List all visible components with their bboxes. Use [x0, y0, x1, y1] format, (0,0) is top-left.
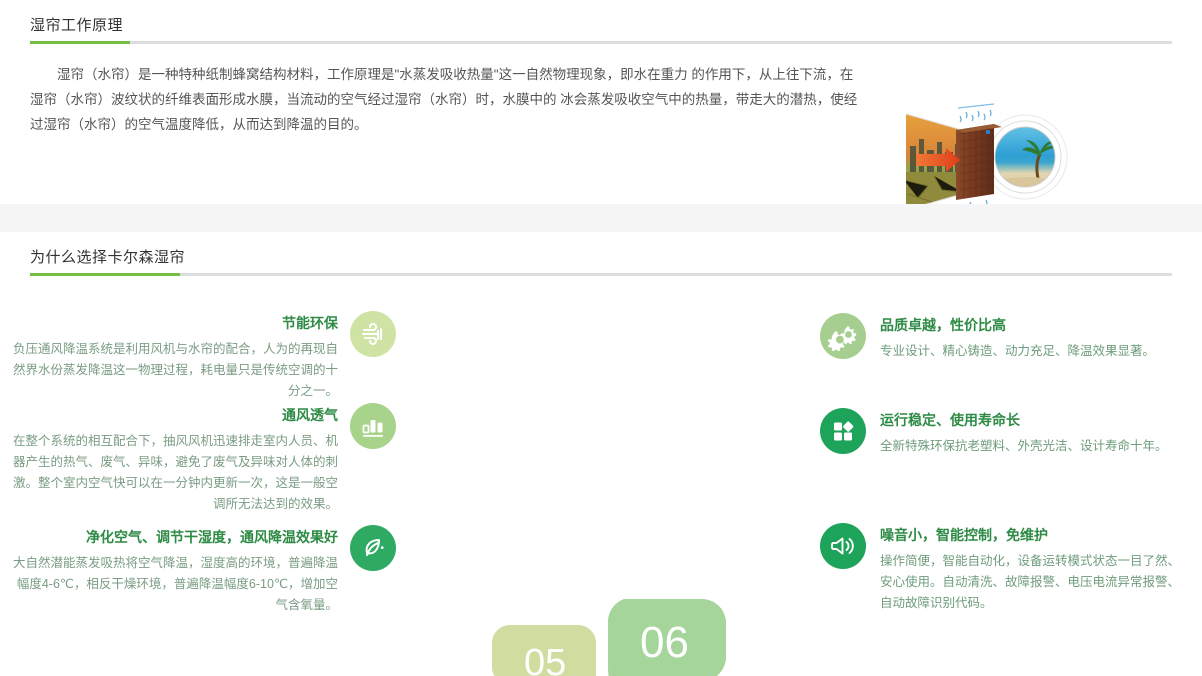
cool-scene: [993, 124, 1059, 190]
feature-description: 在整个系统的相互配合下，抽风风机迅速排走室内人员、机器产生的热气、废气、异味，避…: [10, 431, 338, 515]
feature-description: 专业设计、精心铸造、动力充足、降温效果显著。: [880, 341, 1186, 362]
feature-item-ventilation[interactable]: 通风透气 在整个系统的相互配合下，抽风风机迅速排走室内人员、机器产生的热气、废气…: [10, 403, 410, 515]
feature-text: 净化空气、调节干湿度，通风降温效果好 大自然潜能蒸发吸热将空气降温，湿度高的环境…: [10, 525, 350, 616]
gears-icon: [820, 313, 866, 359]
section-1-body: 湿帘（水帘）是一种特种纸制蜂窝结构材料，工作原理是"水蒸发吸收热量"这一自然物理…: [0, 44, 1202, 194]
leaf-number-label: 06: [640, 618, 689, 667]
feature-text: 通风透气 在整个系统的相互配合下，抽风风机迅速排走室内人员、机器产生的热气、废气…: [10, 403, 350, 515]
feature-text: 运行稳定、使用寿命长 全新特殊环保抗老塑料、外壳光洁、设计寿命十年。: [866, 408, 1186, 457]
wind-icon: [350, 311, 396, 357]
feature-title: 净化空气、调节干湿度，通风降温效果好: [10, 527, 338, 547]
feature-description: 全新特殊环保抗老塑料、外壳光洁、设计寿命十年。: [880, 436, 1186, 457]
intro-paragraph: 湿帘（水帘）是一种特种纸制蜂窝结构材料，工作原理是"水蒸发吸收热量"这一自然物理…: [30, 62, 860, 137]
section-1-header: 湿帘工作原理: [0, 14, 1202, 44]
feature-item-air-purification[interactable]: 净化空气、调节干湿度，通风降温效果好 大自然潜能蒸发吸热将空气降温，湿度高的环境…: [10, 525, 410, 616]
section-why-choose: 为什么选择卡尔森湿帘: [0, 246, 1202, 276]
feature-description: 负压通风降温系统是利用风机与水帘的配合，人为的再现自然界水份蒸发降温这一物理过程…: [10, 339, 338, 402]
speaker-icon: [820, 523, 866, 569]
feature-title: 品质卓越，性价比高: [880, 315, 1186, 335]
feature-item-stability[interactable]: 运行稳定、使用寿命长 全新特殊环保抗老塑料、外壳光洁、设计寿命十年。: [820, 408, 1200, 457]
feature-text: 品质卓越，性价比高 专业设计、精心铸造、动力充足、降温效果显著。: [866, 313, 1186, 362]
leaf-05: 05: [492, 625, 596, 676]
feature-title: 运行稳定、使用寿命长: [880, 410, 1186, 430]
section-2-header: 为什么选择卡尔森湿帘: [0, 246, 1202, 276]
feature-title: 通风透气: [10, 405, 338, 425]
feature-description: 大自然潜能蒸发吸热将空气降温，湿度高的环境，普遍降温幅度4-6℃，相反干燥环境，…: [10, 553, 338, 616]
features-area: 节能环保 负压通风降温系统是利用风机与水帘的配合，人为的再现自然界水份蒸发降温这…: [0, 295, 1202, 676]
feature-title: 节能环保: [10, 313, 338, 333]
feature-description: 操作简便，智能自动化，设备运转模式状态一目了然、安心使用。自动清洗、故障报警、电…: [880, 551, 1186, 614]
leaf-icon: [350, 525, 396, 571]
page-root: 湿帘工作原理 湿帘（水帘）是一种特种纸制蜂窝结构材料，工作原理是"水蒸发吸收热量…: [0, 0, 1202, 676]
bar-chart-icon: [350, 403, 396, 449]
rule-accent-fill: [30, 273, 180, 276]
feature-item-quality[interactable]: 品质卓越，性价比高 专业设计、精心铸造、动力充足、降温效果显著。: [820, 313, 1200, 362]
leaf-number-label: 05: [524, 642, 566, 676]
feature-text: 节能环保 负压通风降温系统是利用风机与水帘的配合，人为的再现自然界水份蒸发降温这…: [10, 311, 350, 402]
feature-item-low-noise[interactable]: 噪音小，智能控制，免维护 操作简便，智能自动化，设备运转模式状态一目了然、安心使…: [820, 523, 1200, 614]
section-divider-band: [0, 204, 1202, 232]
feature-item-energy-saving[interactable]: 节能环保 负压通风降温系统是利用风机与水帘的配合，人为的再现自然界水份蒸发降温这…: [10, 311, 410, 402]
section-working-principle: 湿帘工作原理 湿帘（水帘）是一种特种纸制蜂窝结构材料，工作原理是"水蒸发吸收热量…: [0, 14, 1202, 204]
leaf-06: 06: [608, 599, 726, 676]
section-2-title: 为什么选择卡尔森湿帘: [0, 246, 1202, 273]
leaf-number-cluster: 05 06 03 04: [440, 585, 780, 676]
feature-text: 噪音小，智能控制，免维护 操作简便，智能自动化，设备运转模式状态一目了然、安心使…: [866, 523, 1186, 614]
squares-icon: [820, 408, 866, 454]
page-title: 湿帘工作原理: [0, 14, 1202, 41]
section-2-rule: [30, 273, 1172, 276]
feature-title: 噪音小，智能控制，免维护: [880, 525, 1186, 545]
